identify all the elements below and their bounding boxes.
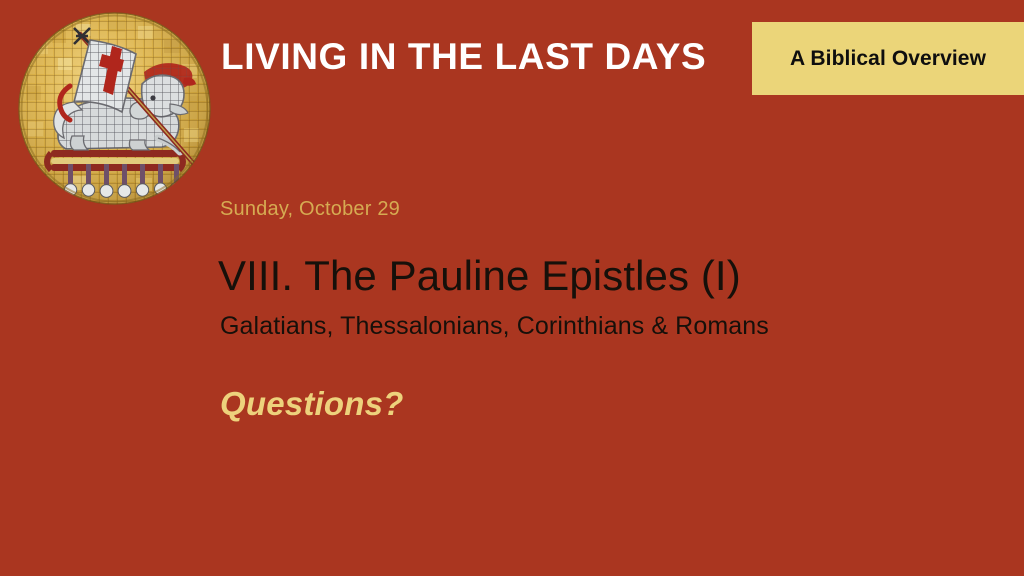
- subtitle-badge-label: A Biblical Overview: [790, 47, 986, 71]
- questions-callout: Questions?: [220, 385, 404, 423]
- session-subheading: Galatians, Thessalonians, Corinthians & …: [220, 312, 769, 341]
- subtitle-badge: A Biblical Overview: [752, 22, 1024, 95]
- session-heading: VIII. The Pauline Epistles (I): [218, 252, 741, 300]
- agnus-dei-mosaic-icon: [18, 12, 211, 205]
- date-label: Sunday, October 29: [220, 198, 400, 221]
- page-title: LIVING IN THE LAST DAYS: [221, 36, 706, 78]
- slide-canvas: LIVING IN THE LAST DAYS A Biblical Overv…: [0, 0, 1024, 576]
